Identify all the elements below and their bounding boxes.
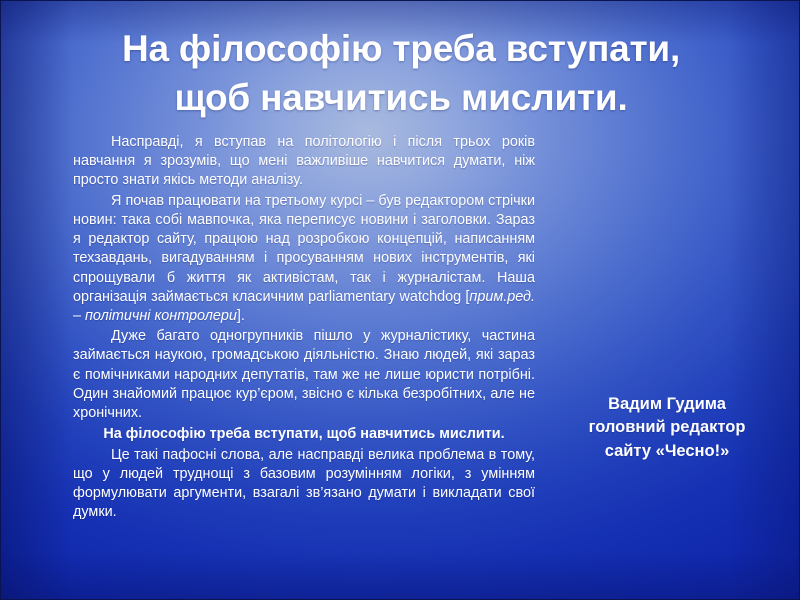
attribution-block: Вадим Гудима головний редактор сайту «Че… <box>549 393 785 463</box>
body-highlight-line: На філософію треба вступати, щоб навчити… <box>73 425 535 444</box>
attribution-site: сайту «Чесно!» <box>549 440 785 463</box>
body-paragraph-1: Насправді, я вступав на політологію і пі… <box>73 133 535 191</box>
slide-title-line-2: щоб навчитись мислити. <box>41 74 761 123</box>
presentation-slide: На філософію треба вступати, щоб навчити… <box>0 0 800 600</box>
body-paragraph-2: Я почав працювати на третьому курсі – бу… <box>73 192 535 327</box>
attribution-role: головний редактор <box>549 416 785 439</box>
body-paragraph-4: Це такі пафосні слова, але насправді вел… <box>73 446 535 523</box>
body-paragraph-2-text-after: ]. <box>237 308 245 324</box>
attribution-name: Вадим Гудима <box>549 393 785 416</box>
body-paragraph-3: Дуже багато одногрупників пішло у журнал… <box>73 327 535 423</box>
slide-title-line-1: На філософію треба вступати, <box>41 25 761 74</box>
body-paragraph-2-text-before: Я почав працювати на третьому курсі – бу… <box>73 193 535 305</box>
slide-body-text: Насправді, я вступав на політологію і пі… <box>73 133 535 523</box>
slide-title: На філософію треба вступати, щоб навчити… <box>41 25 761 123</box>
